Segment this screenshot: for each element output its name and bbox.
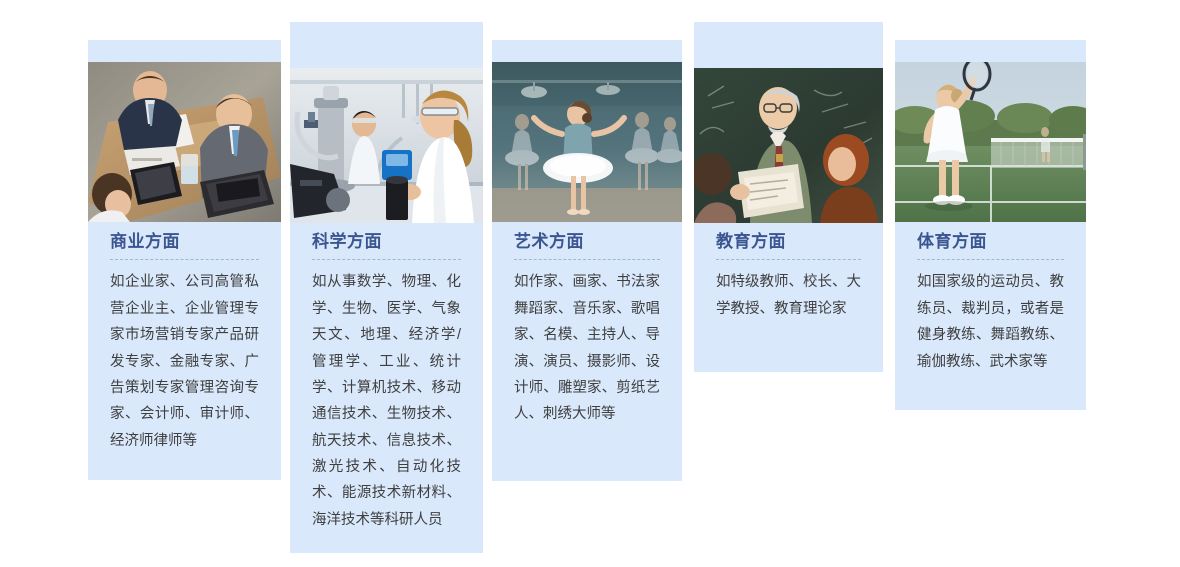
category-card-sports[interactable]: 体育方面 如国家级的运动员、教练员、裁判员，或者是健身教练、舞蹈教练、瑜伽教练、… xyxy=(895,40,1086,410)
card-body-arts: 艺术方面 如作家、画家、书法家舞蹈家、音乐家、歌唱家、名模、主持人、导演、演员、… xyxy=(492,232,682,428)
science-laboratory-photo xyxy=(290,68,483,223)
card-description-sports: 如国家级的运动员、教练员、裁判员，或者是健身教练、舞蹈教练、瑜伽教练、武术家等 xyxy=(917,269,1064,375)
card-description-arts: 如作家、画家、书法家舞蹈家、音乐家、歌唱家、名模、主持人、导演、演员、摄影师、设… xyxy=(514,269,660,427)
title-divider xyxy=(110,259,259,260)
tennis-player-photo xyxy=(895,62,1086,222)
card-title-sports: 体育方面 xyxy=(917,232,1064,252)
card-body-sports: 体育方面 如国家级的运动员、教练员、裁判员，或者是健身教练、舞蹈教练、瑜伽教练、… xyxy=(895,232,1086,375)
category-card-arts[interactable]: 艺术方面 如作家、画家、书法家舞蹈家、音乐家、歌唱家、名模、主持人、导演、演员、… xyxy=(492,40,682,481)
category-card-science[interactable]: 科学方面 如从事数学、物理、化学、生物、医学、气象天文、地理、经济学/管理学、工… xyxy=(290,22,483,553)
title-divider xyxy=(716,259,861,260)
business-meeting-photo xyxy=(88,62,281,222)
card-description-science: 如从事数学、物理、化学、生物、医学、气象天文、地理、经济学/管理学、工业、统计学… xyxy=(312,269,461,533)
card-title-education: 教育方面 xyxy=(716,232,861,252)
teacher-classroom-photo xyxy=(694,68,883,223)
card-description-business: 如企业家、公司高管私营企业主、企业管理专家市场营销专家产品研发专家、金融专家、广… xyxy=(110,269,259,454)
card-body-education: 教育方面 如特级教师、校长、大学教授、教育理论家 xyxy=(694,232,883,322)
card-title-arts: 艺术方面 xyxy=(514,232,660,252)
card-body-science: 科学方面 如从事数学、物理、化学、生物、医学、气象天文、地理、经济学/管理学、工… xyxy=(290,232,483,533)
title-divider xyxy=(312,259,461,260)
card-description-education: 如特级教师、校长、大学教授、教育理论家 xyxy=(716,269,861,322)
card-title-business: 商业方面 xyxy=(110,232,259,252)
title-divider xyxy=(917,259,1064,260)
category-card-business[interactable]: 商业方面 如企业家、公司高管私营企业主、企业管理专家市场营销专家产品研发专家、金… xyxy=(88,40,281,480)
talent-category-cards-panel: 商业方面 如企业家、公司高管私营企业主、企业管理专家市场营销专家产品研发专家、金… xyxy=(0,0,1180,567)
card-title-science: 科学方面 xyxy=(312,232,461,252)
category-card-education[interactable]: 教育方面 如特级教师、校长、大学教授、教育理论家 xyxy=(694,22,883,372)
ballet-dancers-photo xyxy=(492,62,682,222)
title-divider xyxy=(514,259,660,260)
card-body-business: 商业方面 如企业家、公司高管私营企业主、企业管理专家市场营销专家产品研发专家、金… xyxy=(88,232,281,454)
